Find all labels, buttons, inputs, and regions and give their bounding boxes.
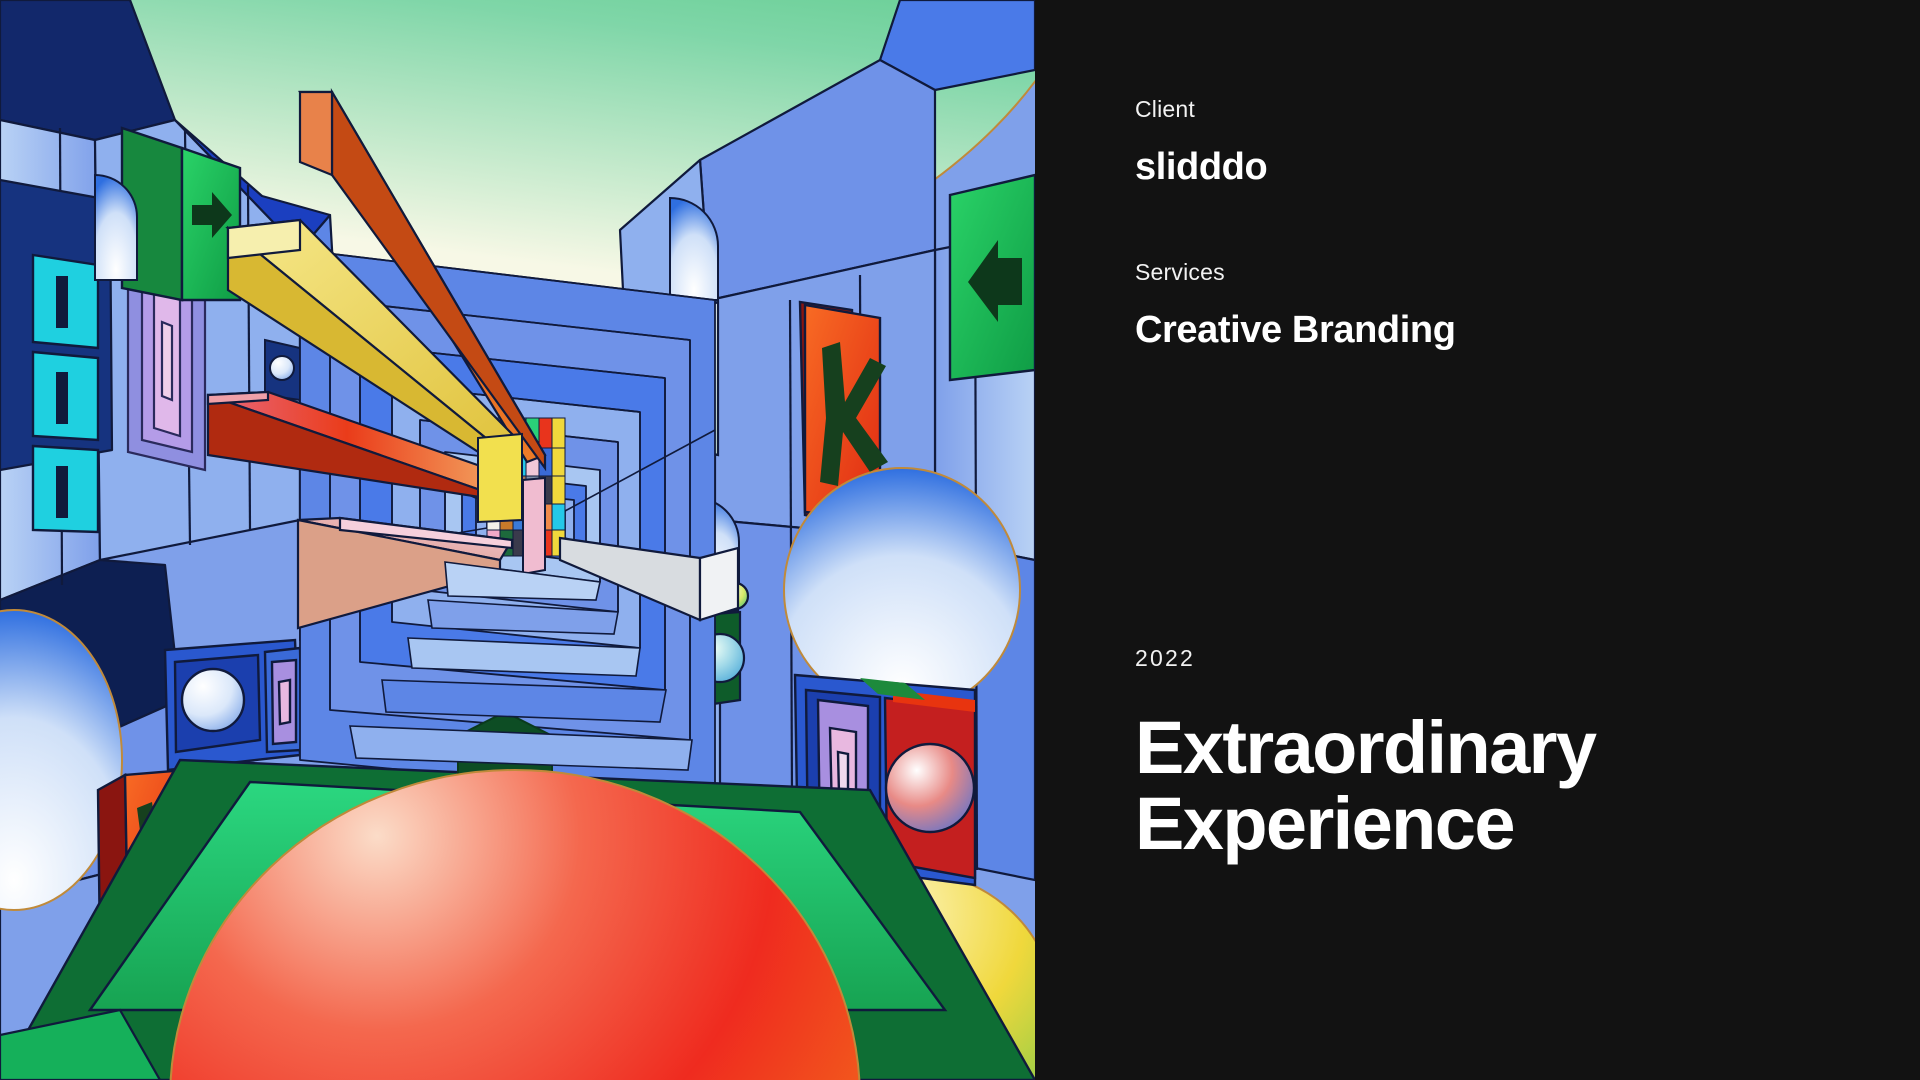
project-info-panel: Client slidddo Services Creative Brandin… xyxy=(1035,0,1920,1080)
headline-line-1: Extraordinary xyxy=(1135,706,1595,789)
project-artwork xyxy=(0,0,1035,1080)
services-block: Services Creative Branding xyxy=(1135,259,1920,352)
slab-pink-center xyxy=(523,478,545,574)
project-year: 2022 xyxy=(1135,645,1920,672)
services-label: Services xyxy=(1135,259,1920,287)
case-study-slide: Client slidddo Services Creative Brandin… xyxy=(0,0,1920,1080)
client-value: slidddo xyxy=(1135,146,1920,190)
services-value: Creative Branding xyxy=(1135,309,1920,353)
page-title: Extraordinary Experience xyxy=(1135,710,1775,862)
client-label: Client xyxy=(1135,96,1920,124)
cyan-bar-panel xyxy=(33,255,98,532)
headline-line-2: Experience xyxy=(1135,786,1775,862)
white-sphere-box xyxy=(165,640,302,770)
client-block: Client slidddo xyxy=(1135,96,1920,189)
exit-sign-arrow-left xyxy=(950,175,1035,380)
slab-yellow-center xyxy=(478,434,522,522)
panel-spacer xyxy=(1135,423,1920,645)
